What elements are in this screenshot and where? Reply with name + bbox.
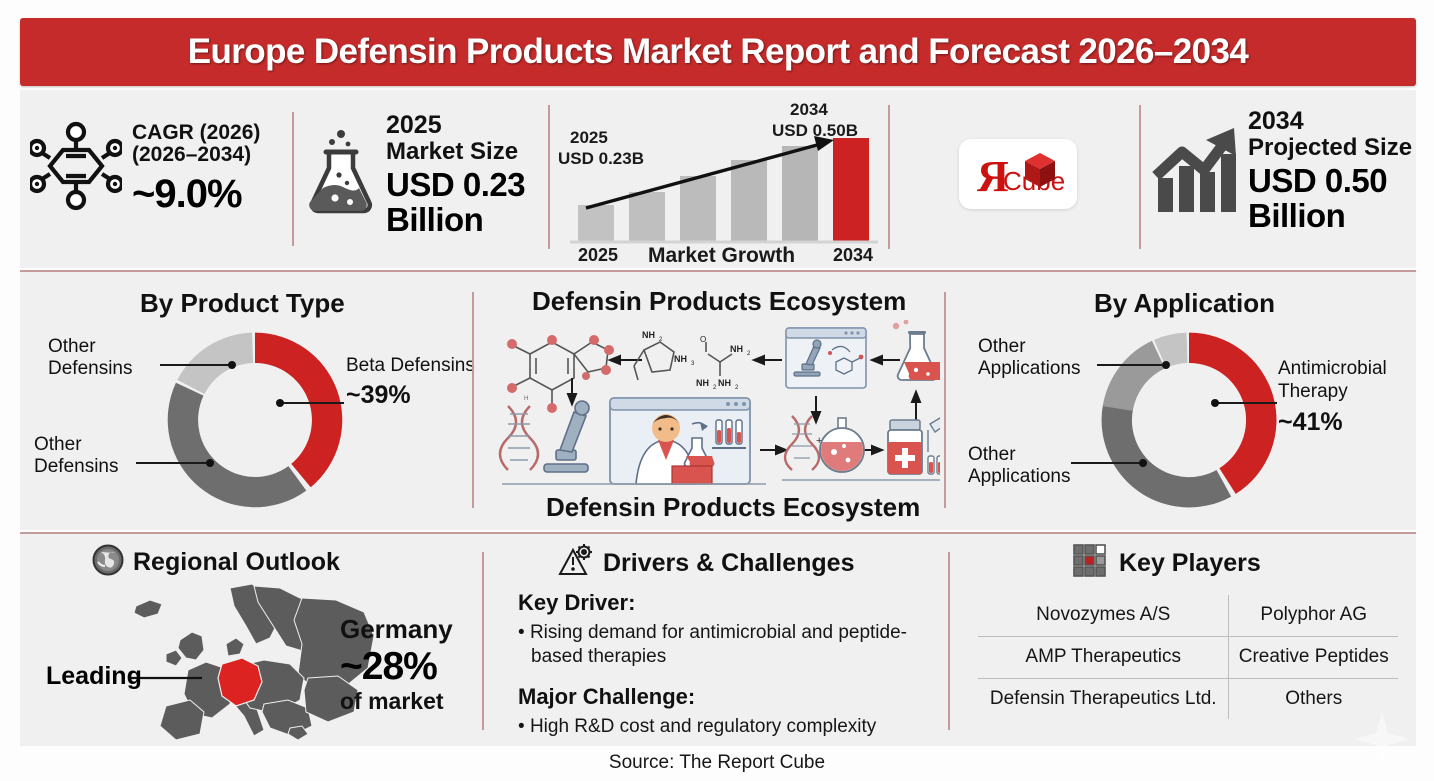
svg-text:NH: NH bbox=[674, 354, 687, 364]
divider-vertical-8 bbox=[948, 552, 950, 730]
bullet-icon: • bbox=[518, 622, 530, 643]
source-text: Source: The Report Cube bbox=[0, 752, 1434, 774]
molecule-icon bbox=[30, 120, 122, 217]
svg-text:H: H bbox=[524, 396, 528, 402]
kpi-market-size-2025: 2025 Market Size USD 0.23 Billion bbox=[306, 112, 525, 238]
kpi-2025-text: 2025 Market Size USD 0.23 Billion bbox=[386, 112, 525, 238]
application-title: By Application bbox=[1094, 288, 1275, 319]
kpi-2034-value-1: USD 0.50 bbox=[1248, 164, 1412, 199]
kpi-cagr-text: CAGR (2026) (2026–2034) ~9.0% bbox=[132, 122, 260, 215]
divider-vertical-5 bbox=[472, 292, 474, 508]
svg-text:O: O bbox=[700, 335, 706, 344]
drivers-title: Drivers & Challenges bbox=[603, 549, 855, 578]
divider-vertical-6 bbox=[944, 292, 946, 508]
growth-start-year: 2025 bbox=[570, 128, 608, 148]
svg-text:NH: NH bbox=[696, 378, 709, 388]
growth-arrow-icon bbox=[1152, 120, 1238, 221]
growth-start-value: USD 0.23B bbox=[558, 149, 644, 169]
growth-axis-right: 2034 bbox=[833, 245, 873, 266]
kpi-2034-year: 2034 bbox=[1248, 108, 1412, 135]
globe-icon bbox=[92, 544, 124, 581]
drivers-header: Drivers & Challenges bbox=[556, 543, 855, 584]
ecosystem-illustration: H O NH 2 NH 3 O NH 2 NH 2 NH 2 bbox=[496, 320, 940, 492]
regional-outlook-header: Regional Outlook bbox=[92, 544, 340, 581]
key-players-table: Novozymes A/S Polyphor AG AMP Therapeuti… bbox=[978, 595, 1398, 719]
kpi-2034-value-2: Billion bbox=[1248, 199, 1412, 234]
kpi-cagr-line2: (2026–2034) bbox=[132, 144, 260, 166]
regional-leading-label: Leading bbox=[46, 662, 142, 691]
divider-vertical-4 bbox=[1139, 105, 1141, 249]
key-players-title: Key Players bbox=[1119, 549, 1261, 578]
regional-share: ~28% bbox=[340, 646, 453, 687]
growth-end-year: 2034 bbox=[790, 100, 828, 120]
kpi-2034-text: 2034 Projected Size USD 0.50 Billion bbox=[1248, 108, 1412, 234]
application-label-other-top: Other Applications bbox=[978, 336, 1108, 381]
kpi-cagr-value: ~9.0% bbox=[132, 173, 260, 215]
divider-vertical-7 bbox=[482, 552, 484, 730]
kpi-2025-label: Market Size bbox=[386, 139, 525, 164]
divider-vertical-3 bbox=[888, 105, 890, 249]
table-row: AMP Therapeutics Creative Peptides bbox=[978, 637, 1398, 679]
bullet-icon: • bbox=[518, 716, 530, 737]
kpi-2025-value-2: Billion bbox=[386, 203, 525, 238]
growth-end-value: USD 0.50B bbox=[772, 121, 858, 141]
key-driver-heading: Key Driver: bbox=[518, 590, 938, 616]
product-type-label-beta: Beta Defensins ~39% bbox=[346, 355, 475, 411]
table-row: Defensin Therapeutics Ltd. Others bbox=[978, 679, 1398, 720]
drivers-body: Key Driver: • Rising demand for antimicr… bbox=[518, 590, 938, 739]
market-growth-chart: 2025 USD 0.23B 2034 USD 0.50B 2025 Marke… bbox=[556, 100, 886, 268]
product-type-label-other-top: Other Defensins bbox=[48, 336, 168, 381]
player-cell: AMP Therapeutics bbox=[978, 637, 1229, 679]
application-label-antimicrobial: Antimicrobial Therapy ~41% bbox=[1278, 358, 1418, 437]
kpi-cagr-line1: CAGR (2026) bbox=[132, 122, 260, 144]
divider-vertical-2 bbox=[548, 105, 550, 249]
svg-text:NH: NH bbox=[730, 344, 743, 354]
regional-stat: Germany ~28% of market bbox=[340, 616, 453, 713]
regional-outlook-title: Regional Outlook bbox=[133, 548, 340, 577]
regional-share-suffix: of market bbox=[340, 689, 453, 713]
grid-squares-icon bbox=[1072, 543, 1110, 584]
infographic-canvas: Europe Defensin Products Market Report a… bbox=[0, 0, 1434, 781]
ecosystem-title-top: Defensin Products Ecosystem bbox=[532, 286, 906, 317]
player-cell: Creative Peptides bbox=[1229, 637, 1398, 679]
player-cell: Defensin Therapeutics Ltd. bbox=[978, 679, 1229, 720]
product-type-title: By Product Type bbox=[140, 288, 345, 319]
growth-xlabel: Market Growth bbox=[648, 244, 795, 268]
divider-vertical-1 bbox=[292, 112, 294, 246]
major-challenge-heading: Major Challenge: bbox=[518, 684, 938, 710]
table-row: Novozymes A/S Polyphor AG bbox=[978, 595, 1398, 637]
kpi-cagr: CAGR (2026) (2026–2034) ~9.0% bbox=[30, 120, 260, 217]
kpi-2025-value-1: USD 0.23 bbox=[386, 168, 525, 203]
key-players-header: Key Players bbox=[1072, 543, 1261, 584]
regional-country: Germany bbox=[340, 616, 453, 644]
product-type-label-other-bottom: Other Defensins bbox=[34, 434, 164, 479]
ecosystem-title-bottom: Defensin Products Ecosystem bbox=[546, 492, 920, 523]
header-banner: Europe Defensin Products Market Report a… bbox=[20, 18, 1416, 86]
flask-icon bbox=[306, 126, 376, 223]
key-driver-item: • Rising demand for antimicrobial and pe… bbox=[518, 621, 938, 668]
kpi-2034-label: Projected Size bbox=[1248, 135, 1412, 160]
warning-gear-icon bbox=[556, 543, 594, 584]
brand-logo[interactable]: Я Cube bbox=[959, 139, 1077, 209]
major-challenge-item: • High R&D cost and regulatory complexit… bbox=[518, 715, 938, 739]
player-cell: Novozymes A/S bbox=[978, 595, 1229, 637]
kpi-projected-2034: 2034 Projected Size USD 0.50 Billion bbox=[1152, 108, 1412, 234]
page-title: Europe Defensin Products Market Report a… bbox=[188, 32, 1248, 72]
growth-axis-left: 2025 bbox=[578, 245, 618, 266]
player-cell: Polyphor AG bbox=[1229, 595, 1398, 637]
svg-text:NH: NH bbox=[642, 330, 655, 340]
svg-text:NH: NH bbox=[718, 378, 731, 388]
kpi-2025-year: 2025 bbox=[386, 112, 525, 139]
application-label-other-bottom: Other Applications bbox=[968, 444, 1108, 489]
